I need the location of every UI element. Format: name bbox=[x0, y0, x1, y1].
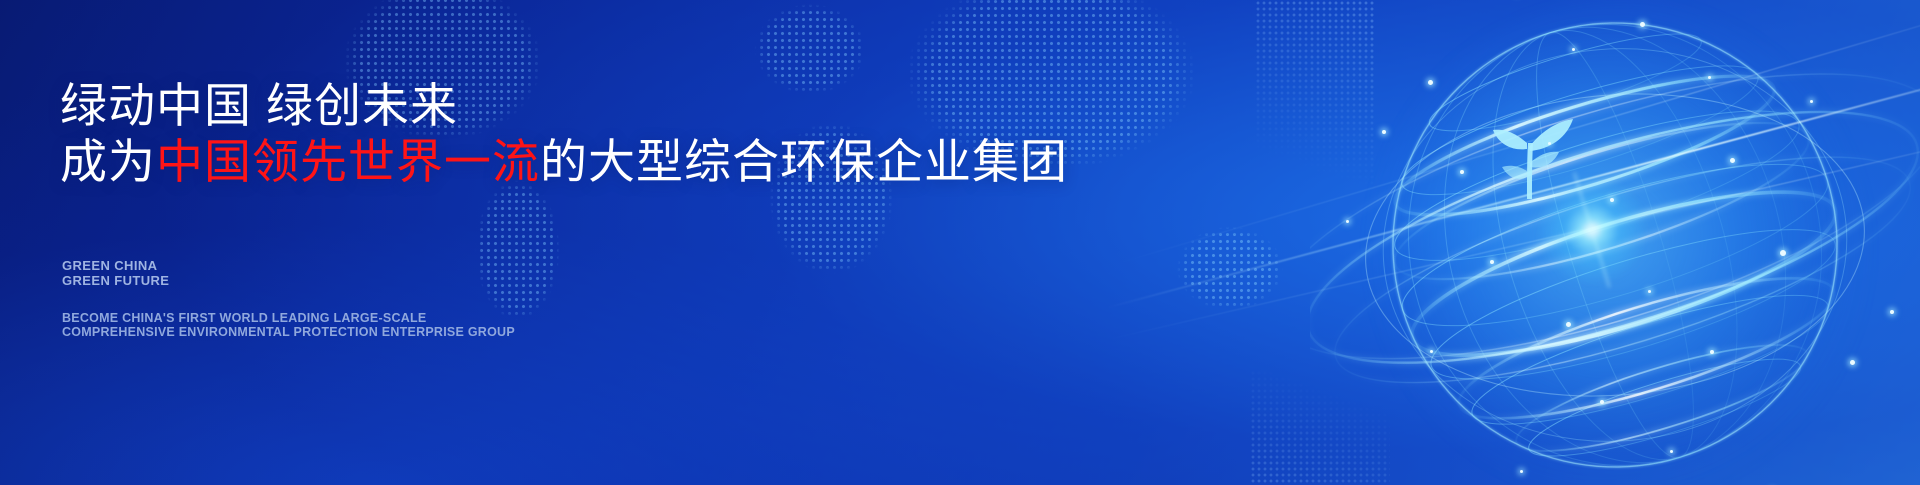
wireframe-globe-icon bbox=[1310, 0, 1920, 485]
tagline: GREEN CHINA GREEN FUTURE bbox=[62, 258, 169, 288]
headline-line2-prefix: 成为 bbox=[60, 135, 156, 188]
headline: 绿动中国 绿创未来 成为中国领先世界一流的大型综合环保企业集团 bbox=[60, 78, 1068, 190]
globe-glow bbox=[1370, 0, 1870, 485]
star-flare-icon bbox=[1532, 170, 1652, 290]
light-beam-tertiary bbox=[1110, 0, 1920, 266]
hero-banner: 绿动中国 绿创未来 成为中国领先世界一流的大型综合环保企业集团 GREEN CH… bbox=[0, 0, 1920, 485]
headline-line1: 绿动中国 绿创未来 bbox=[60, 79, 458, 132]
banner-copy: 绿动中国 绿创未来 成为中国领先世界一流的大型综合环保企业集团 GREEN CH… bbox=[60, 0, 1110, 485]
tagline-line2: GREEN FUTURE bbox=[62, 273, 169, 288]
particle-field bbox=[1310, 0, 1920, 485]
globe-graphic bbox=[1310, 0, 1920, 485]
subline: BECOME CHINA'S FIRST WORLD LEADING LARGE… bbox=[62, 311, 515, 339]
sprout-leaf-icon bbox=[1483, 105, 1575, 201]
subline-line2: COMPREHENSIVE ENVIRONMENTAL PROTECTION E… bbox=[62, 325, 515, 339]
map-region-oceania bbox=[1140, 210, 1320, 340]
subline-line1: BECOME CHINA'S FIRST WORLD LEADING LARGE… bbox=[62, 311, 515, 325]
headline-line2: 成为中国领先世界一流的大型综合环保企业集团 bbox=[60, 134, 1068, 190]
light-beam-primary bbox=[1106, 53, 1920, 309]
tagline-line1: GREEN CHINA bbox=[62, 258, 169, 273]
hex-dot-field-top-icon bbox=[1255, 0, 1375, 200]
hex-dot-field-bottom-icon bbox=[1250, 370, 1390, 485]
headline-line2-highlight: 中国领先世界一流 bbox=[156, 135, 540, 188]
light-beam-secondary bbox=[1102, 120, 1920, 342]
headline-line2-suffix: 的大型综合环保企业集团 bbox=[540, 135, 1068, 188]
